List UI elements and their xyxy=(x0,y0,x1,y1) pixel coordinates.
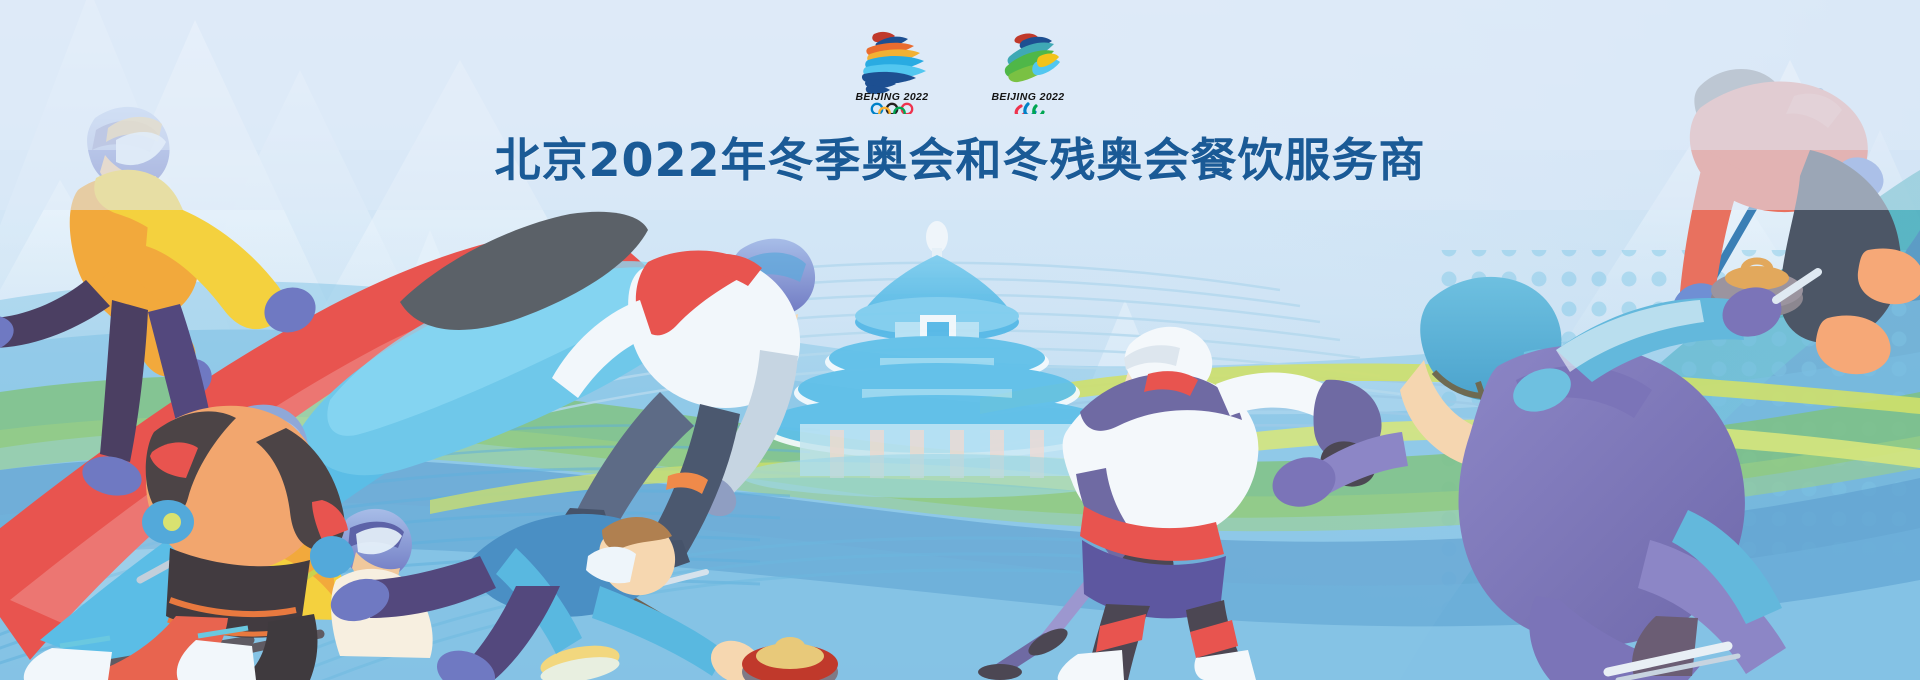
winter-olympics-illustration xyxy=(0,0,1920,680)
beijing-2022-hero-banner: BEIJING 2022 xyxy=(0,0,1920,680)
page-title: 北京2022年冬季奥会和冬残奥会餐饮服务商 xyxy=(0,124,1920,190)
